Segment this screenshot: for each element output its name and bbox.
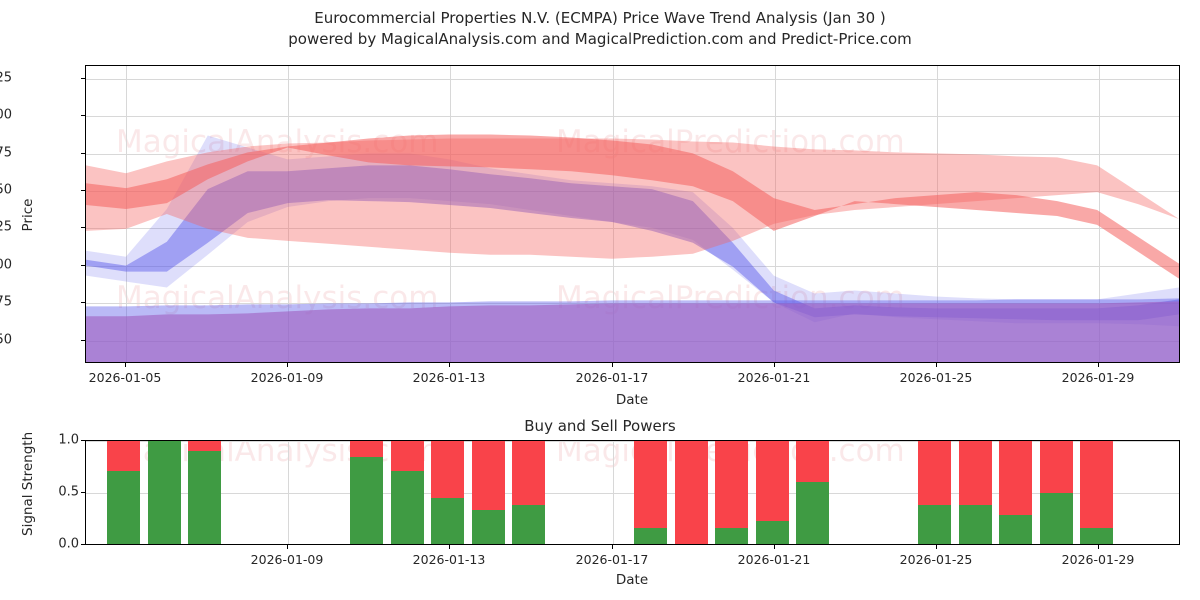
ytick-label-sig-00: 0.0 xyxy=(35,537,79,552)
xtick-mark-main-0121 xyxy=(774,363,775,367)
ytick-mark-sig-10 xyxy=(81,440,85,441)
ytick-label-sig-05: 0.5 xyxy=(35,485,79,500)
signal-bar-0114[interactable] xyxy=(431,441,464,544)
xtick-mark-sig-0121 xyxy=(774,545,775,549)
xtick-label-sig-0109: 2026-01-09 xyxy=(251,552,324,567)
gridline-sig-x-0117 xyxy=(613,441,614,544)
xtick-mark-main-0113 xyxy=(449,363,450,367)
price-chart-axes: MagicalAnalysis.com MagicalPrediction.co… xyxy=(85,65,1180,363)
ytick-label-2525: 25.25 xyxy=(0,220,12,235)
signal-bar-0130[interactable] xyxy=(1080,441,1113,544)
ytick-label-2625: 26.25 xyxy=(0,71,12,86)
signal-bar-0123[interactable] xyxy=(796,441,829,544)
xtick-mark-main-0117 xyxy=(612,363,613,367)
ytick-label-2550: 25.50 xyxy=(0,183,12,198)
price-plot-clip: MagicalAnalysis.com MagicalPrediction.co… xyxy=(86,66,1179,362)
xtick-label-main-0129: 2026-01-29 xyxy=(1062,370,1135,385)
signal-bar-0106[interactable] xyxy=(107,441,140,544)
ytick-label-sig-10: 1.0 xyxy=(35,433,79,448)
date-axis-label-main: Date xyxy=(616,392,648,408)
ytick-mark-sig-05 xyxy=(81,492,85,493)
figure-title-line2: powered by MagicalAnalysis.com and Magic… xyxy=(0,29,1200,50)
signal-bar-0116[interactable] xyxy=(512,441,545,544)
xtick-label-sig-0125: 2026-01-25 xyxy=(900,552,973,567)
date-axis-label-signal: Date xyxy=(616,572,648,588)
signal-bar-0112[interactable] xyxy=(350,441,383,544)
ytick-mark-2450 xyxy=(81,340,85,341)
signal-bar-0129[interactable] xyxy=(1040,441,1073,544)
signal-bar-0126[interactable] xyxy=(918,441,951,544)
xtick-label-sig-0117: 2026-01-17 xyxy=(576,552,649,567)
xtick-mark-main-0109 xyxy=(287,363,288,367)
xtick-mark-sig-0129 xyxy=(1098,545,1099,549)
signal-bar-0127[interactable] xyxy=(959,441,992,544)
ytick-mark-2600 xyxy=(81,115,85,116)
xtick-label-main-0125: 2026-01-25 xyxy=(900,370,973,385)
figure-title: Eurocommercial Properties N.V. (ECMPA) P… xyxy=(0,8,1200,50)
signal-plot-clip: MagicalAnalysis.com MagicalPrediction.co… xyxy=(86,441,1179,544)
xtick-mark-sig-0109 xyxy=(287,545,288,549)
signal-bar-0115[interactable] xyxy=(472,441,505,544)
signal-chart-title: Buy and Sell Powers xyxy=(0,417,1200,436)
ytick-label-2500: 25.00 xyxy=(0,258,12,273)
xtick-label-sig-0129: 2026-01-29 xyxy=(1062,552,1135,567)
xtick-label-sig-0121: 2026-01-21 xyxy=(738,552,811,567)
price-wave-bands xyxy=(86,66,1179,362)
signal-bar-0107[interactable] xyxy=(148,441,181,544)
ytick-mark-2550 xyxy=(81,190,85,191)
gridline-sig-x-0109 xyxy=(288,441,289,544)
signal-axis-label: Signal Strength xyxy=(20,464,36,536)
ytick-mark-2500 xyxy=(81,265,85,266)
xtick-label-main-0109: 2026-01-09 xyxy=(251,370,324,385)
xtick-label-main-0121: 2026-01-21 xyxy=(738,370,811,385)
signal-bar-0108[interactable] xyxy=(188,441,221,544)
xtick-mark-main-0105 xyxy=(125,363,126,367)
ytick-label-2600: 26.00 xyxy=(0,108,12,123)
signal-bar-0120[interactable] xyxy=(675,441,708,544)
ytick-mark-sig-00 xyxy=(81,544,85,545)
signal-chart-axes: MagicalAnalysis.com MagicalPrediction.co… xyxy=(85,440,1180,545)
xtick-label-sig-0113: 2026-01-13 xyxy=(413,552,486,567)
signal-bar-0122[interactable] xyxy=(756,441,789,544)
xtick-mark-sig-0125 xyxy=(936,545,937,549)
xtick-label-main-0113: 2026-01-13 xyxy=(413,370,486,385)
figure-title-line1: Eurocommercial Properties N.V. (ECMPA) P… xyxy=(314,9,886,27)
signal-bar-0128[interactable] xyxy=(999,441,1032,544)
signal-bar-0113[interactable] xyxy=(391,441,424,544)
xtick-label-main-0117: 2026-01-17 xyxy=(576,370,649,385)
chart-page: Eurocommercial Properties N.V. (ECMPA) P… xyxy=(0,0,1200,600)
price-axis-label: Price xyxy=(20,185,36,245)
ytick-mark-2575 xyxy=(81,153,85,154)
xtick-mark-main-0125 xyxy=(936,363,937,367)
xtick-mark-sig-0113 xyxy=(449,545,450,549)
xtick-mark-sig-0117 xyxy=(612,545,613,549)
ytick-label-2575: 25.75 xyxy=(0,146,12,161)
xtick-mark-main-0129 xyxy=(1098,363,1099,367)
xtick-label-main-0105: 2026-01-05 xyxy=(89,370,162,385)
ytick-label-2450: 24.50 xyxy=(0,333,12,348)
signal-bar-0121[interactable] xyxy=(715,441,748,544)
ytick-mark-2475 xyxy=(81,302,85,303)
ytick-mark-2525 xyxy=(81,227,85,228)
signal-bar-0119[interactable] xyxy=(634,441,667,544)
ytick-mark-2625 xyxy=(81,78,85,79)
ytick-label-2475: 24.75 xyxy=(0,295,12,310)
